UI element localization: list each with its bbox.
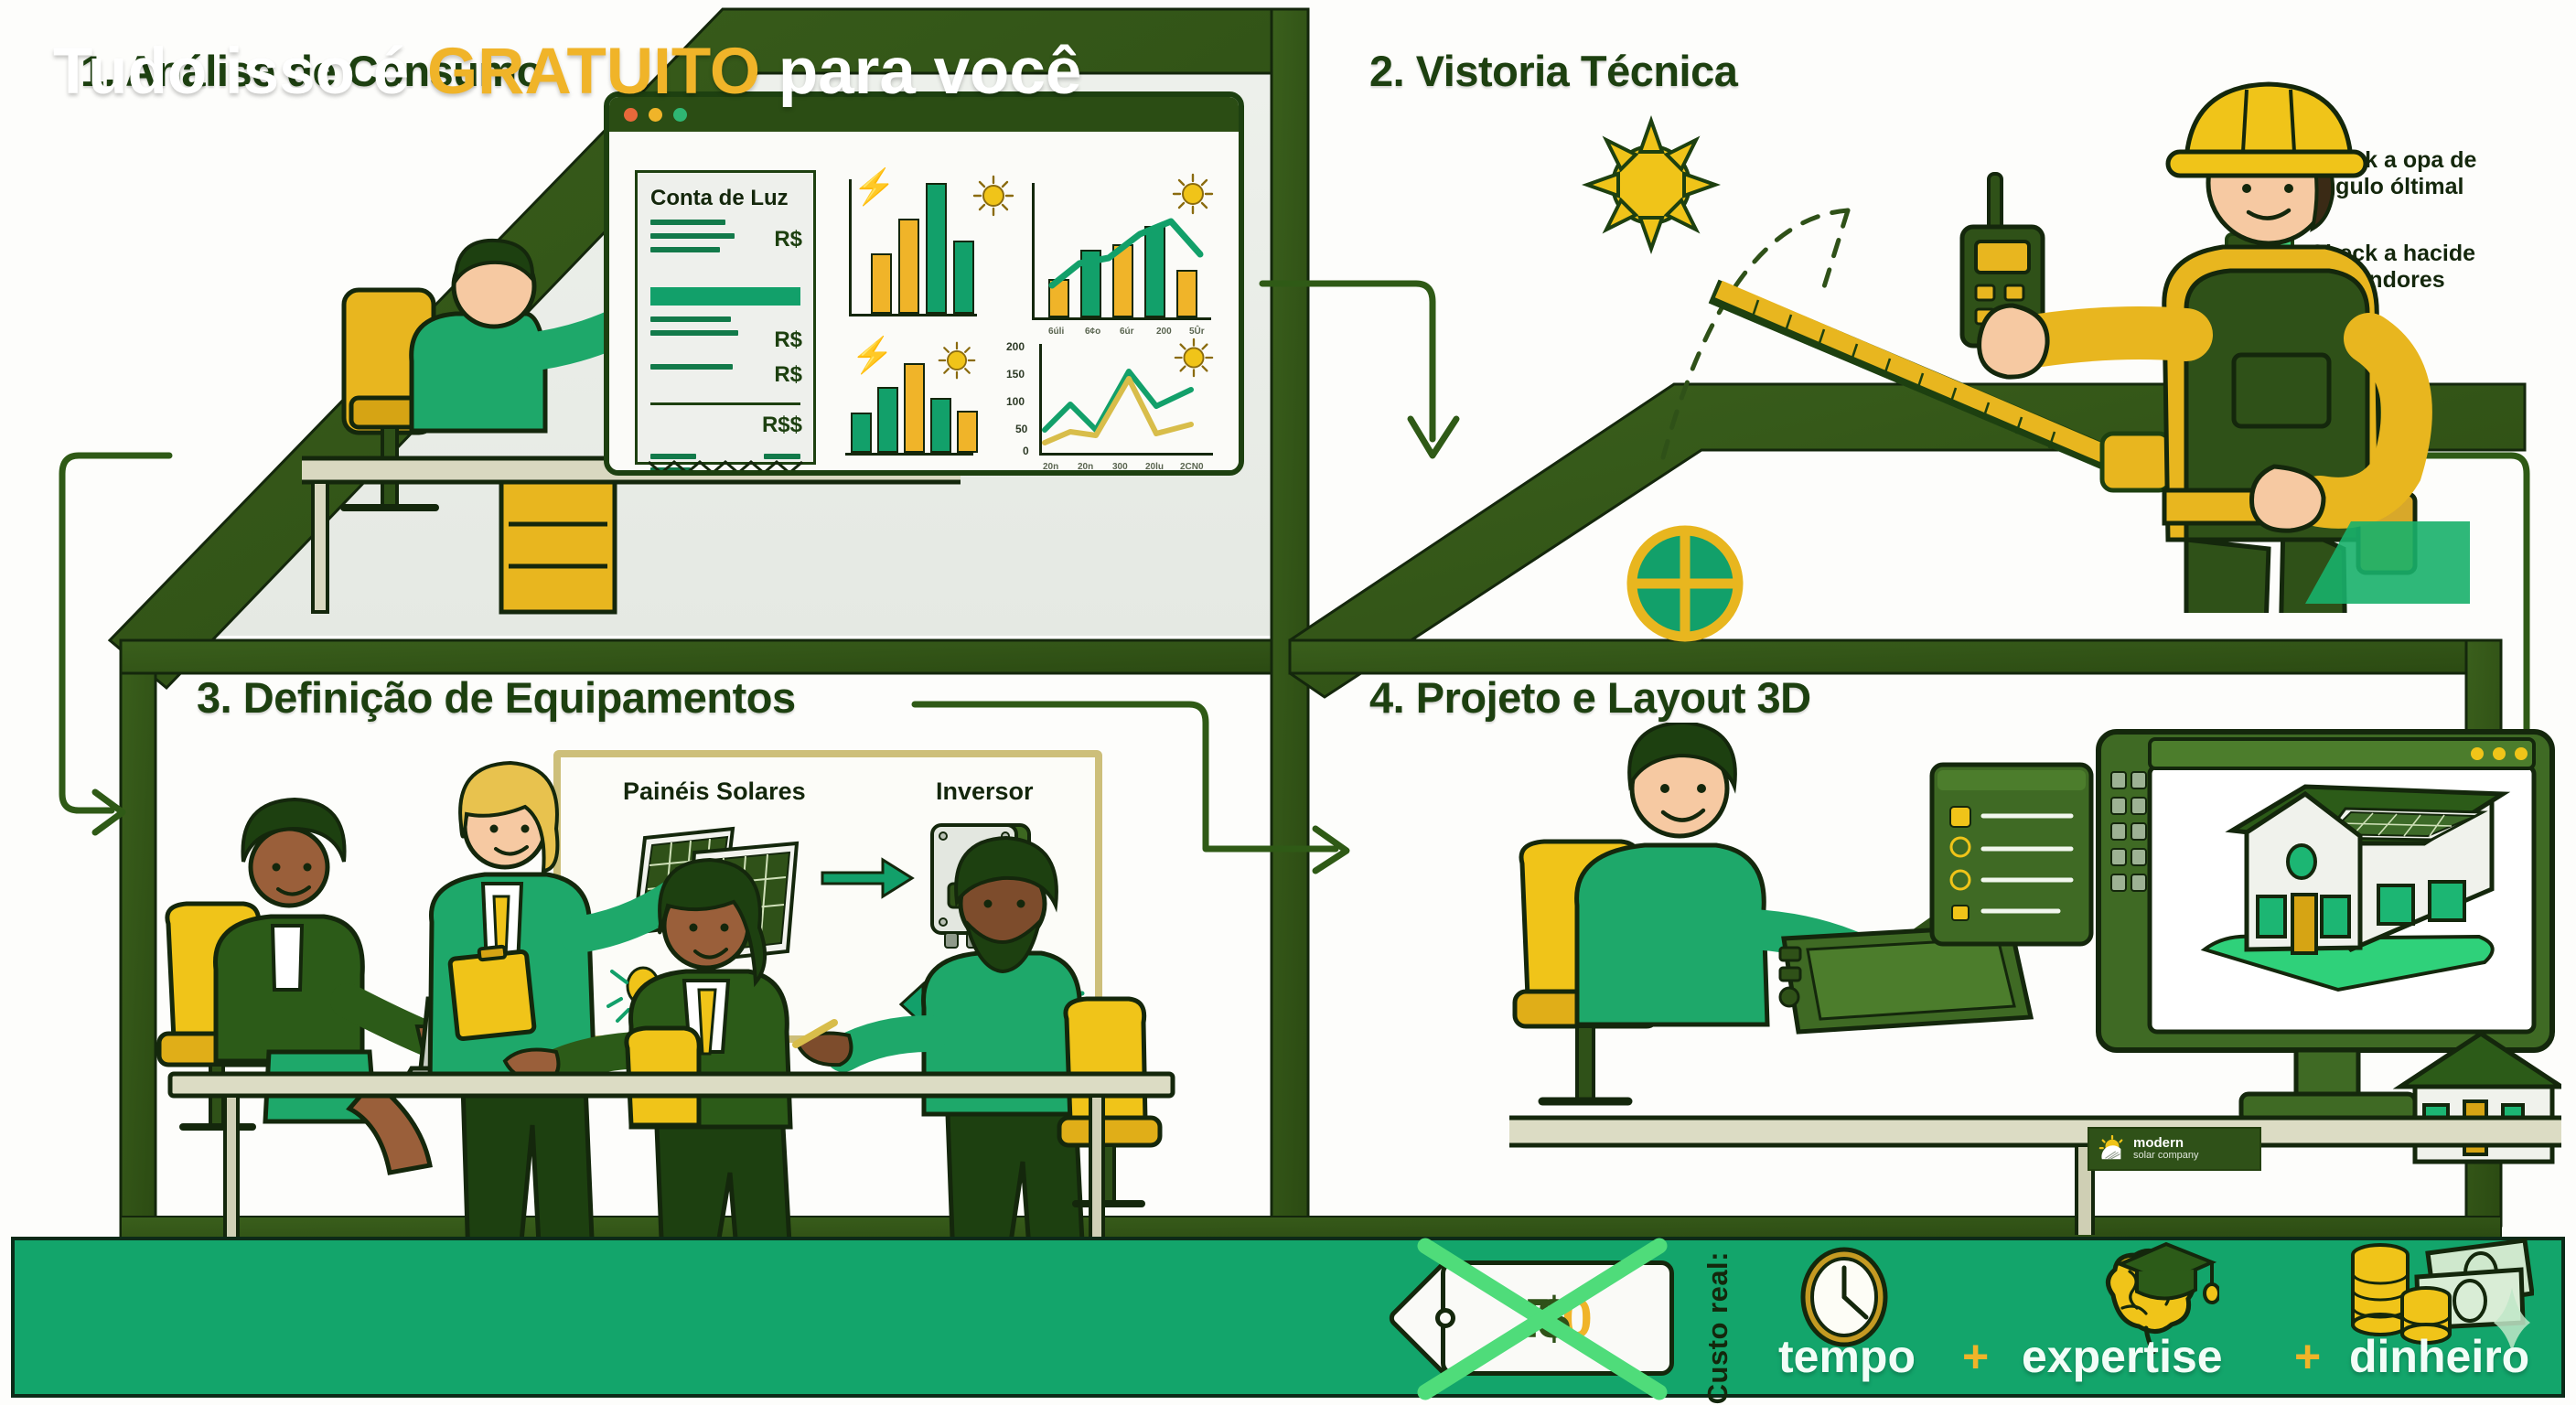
bill-highlight-bar (650, 287, 800, 306)
cost-item-label: expertise (2022, 1330, 2223, 1383)
cost-separator: + (1962, 1330, 1989, 1383)
sun-icon (1587, 121, 1715, 249)
electric-bill-card: Conta de Luz R$ R$ R (635, 170, 816, 465)
banner-highlight: GRATUITO (427, 36, 760, 108)
banner-text-after: para você (778, 36, 1082, 108)
panel-title-4: 4. Projeto e Layout 3D (1369, 672, 1811, 723)
company-logo: modern solar company (2088, 1127, 2261, 1171)
banner-headline: Tudo isso é GRATUITO para você (53, 35, 1081, 109)
bill-title: Conta de Luz (650, 186, 813, 211)
sun-icon (937, 340, 977, 381)
window-dot-maximize[interactable] (673, 108, 687, 122)
panel1-monitor: Conta de Luz R$ R$ R (604, 91, 1244, 476)
panel-title-3: 3. Definição de Equipamentos (197, 672, 796, 723)
window-dot-close[interactable] (624, 108, 638, 122)
cost-label: Custo real: (1701, 1251, 1734, 1404)
sun-icon (1171, 172, 1215, 216)
panel4-designer-scene (1509, 723, 2561, 1235)
clipboard-icon (450, 947, 535, 1040)
panel3-meeting-scene (156, 759, 1189, 1271)
infographic-canvas: 1. Análise de Consumo 2. Vistoria Técnic… (0, 0, 2576, 1405)
desk (1509, 1118, 2561, 1235)
bill-amount: R$ (774, 327, 802, 353)
bill-torn-edge (649, 458, 810, 476)
window-dot-minimize[interactable] (649, 108, 662, 122)
lightning-bolt-icon: ⚡ (851, 338, 894, 373)
cost-item-label: dinheiro (2349, 1330, 2529, 1383)
lightning-bolt-icon: ⚡ (853, 170, 896, 205)
cross-out-icon (1390, 1233, 1692, 1403)
bill-amount: R$ (774, 362, 802, 388)
cost-item-label: tempo (1778, 1330, 1916, 1383)
cost-items: tempo + expertise + (1766, 1251, 2543, 1389)
logo-name: modern (2133, 1136, 2199, 1150)
participant-person (216, 799, 458, 1173)
bill-amount: R$ (774, 227, 802, 252)
bill-total: R$$ (762, 413, 802, 438)
window-dots (2471, 747, 2528, 760)
cost-separator: + (2294, 1330, 2321, 1383)
logo-tagline: solar company (2133, 1150, 2199, 1161)
participant-person (796, 838, 1083, 1260)
sun-icon (1173, 337, 1215, 379)
solar-sun-logo-icon (2098, 1135, 2126, 1163)
sun-icon (971, 174, 1015, 218)
banner-text-before: Tudo isso é (53, 36, 409, 108)
checklist-card (1932, 765, 2091, 944)
panel2-technician-scene (1546, 64, 2470, 613)
desk (302, 458, 961, 612)
